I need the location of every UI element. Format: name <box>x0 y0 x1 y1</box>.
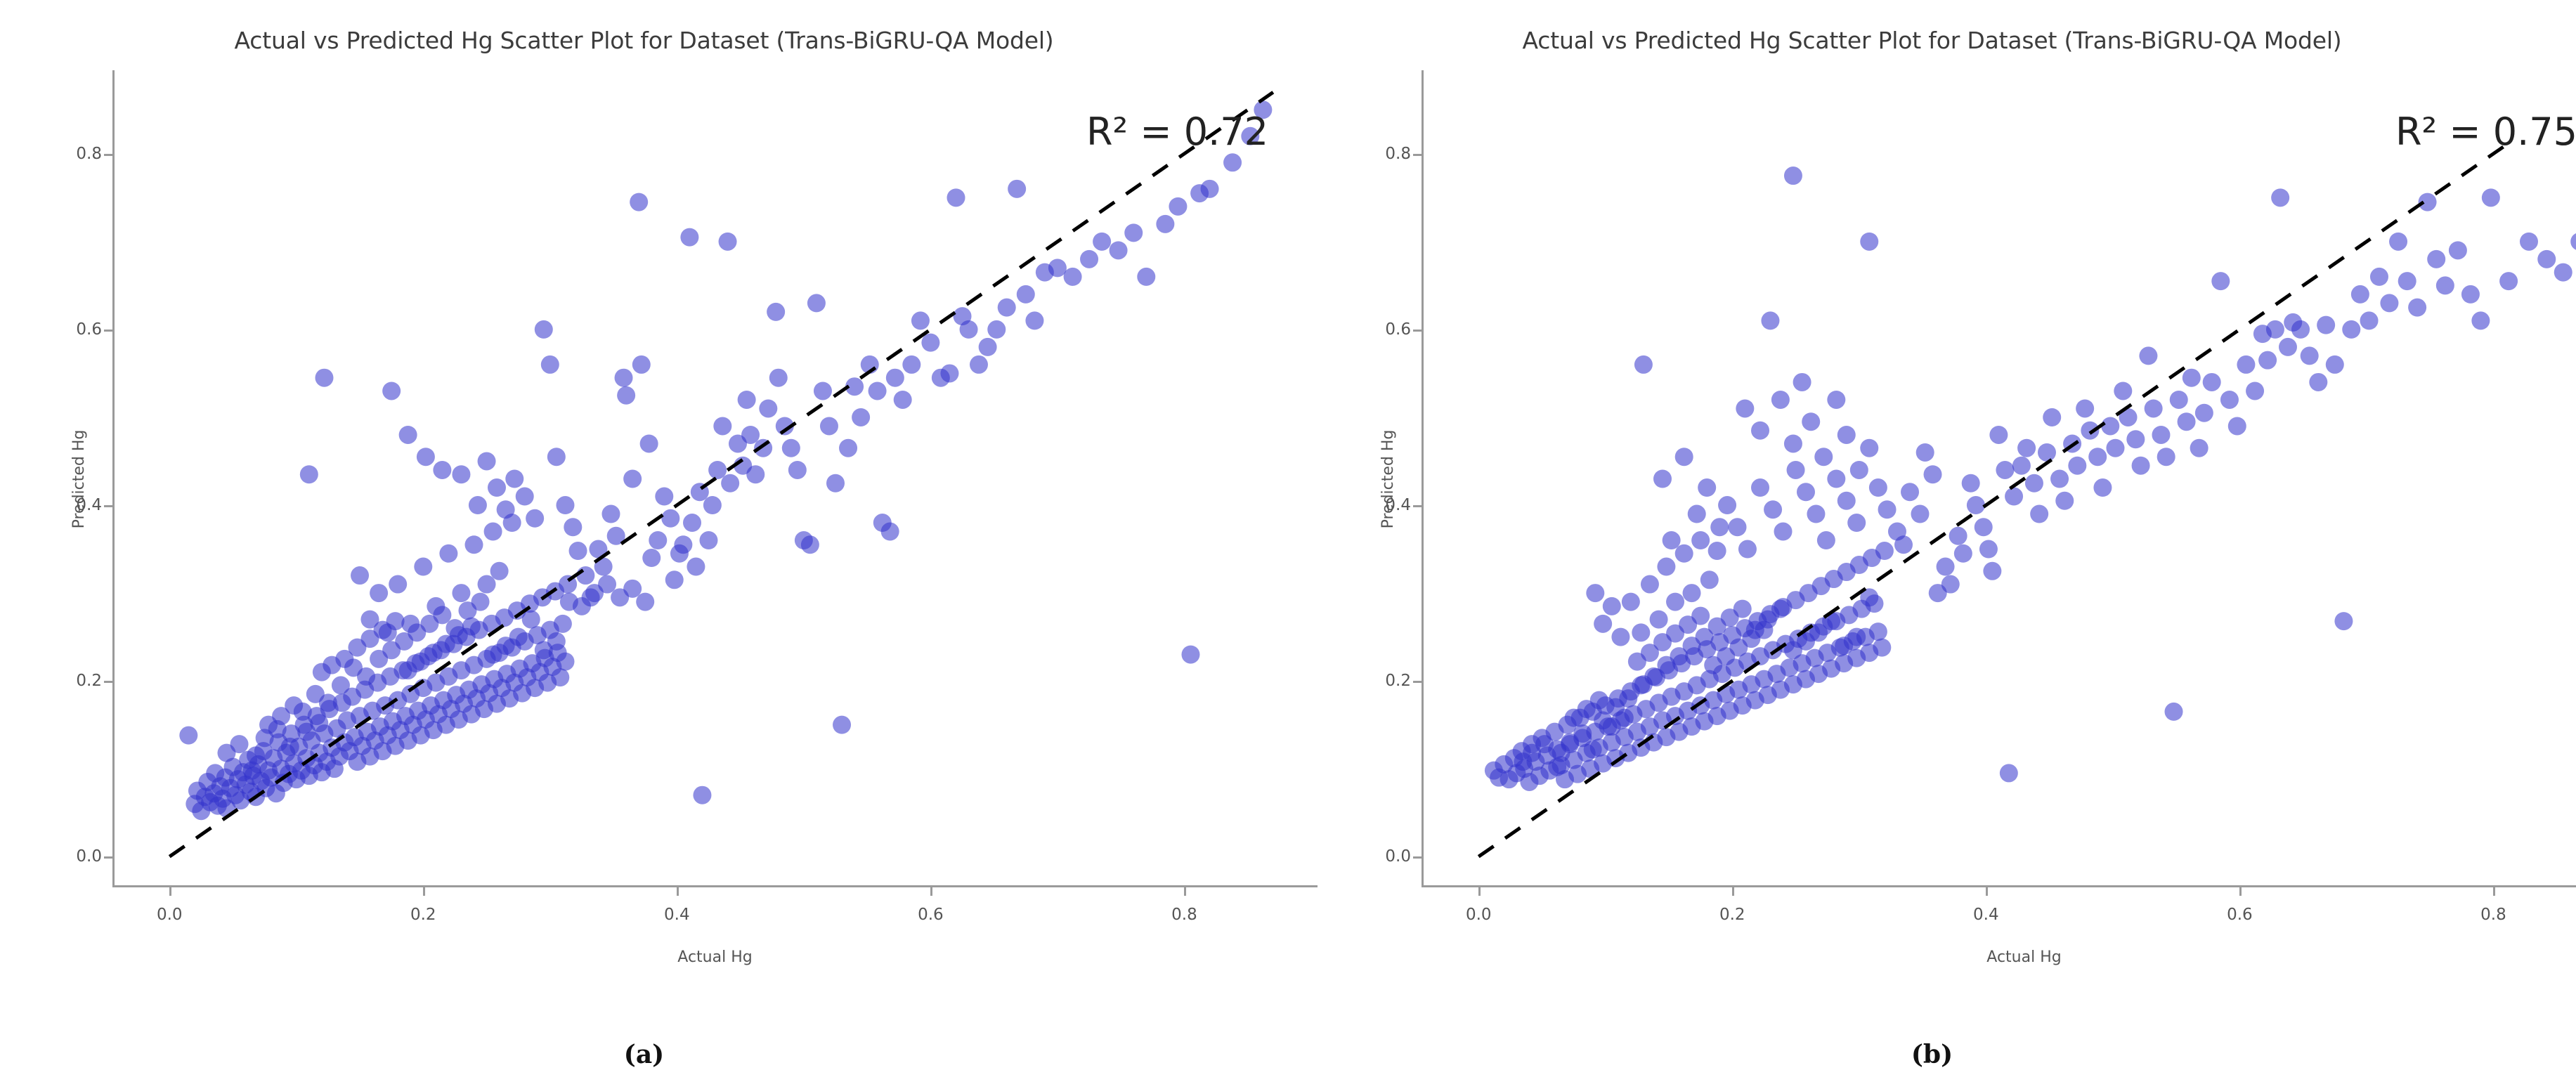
scatter-point <box>1650 611 1668 629</box>
scatter-point <box>2101 417 2119 435</box>
scatter-point <box>839 439 857 457</box>
scatter-point <box>1911 505 1929 523</box>
scatter-point <box>894 391 912 409</box>
scatter-point <box>2068 457 2086 475</box>
scatter-point <box>351 566 369 585</box>
scatter-point <box>433 461 451 479</box>
scatter-point <box>1025 311 1043 330</box>
scatter-point <box>680 228 698 247</box>
y-tick-label: 0.2 <box>18 672 102 690</box>
scatter-point <box>2554 263 2572 282</box>
x-tick-label: 0.4 <box>635 906 719 924</box>
scatter-point <box>902 356 921 374</box>
scatter-point <box>2055 492 2074 510</box>
y-tick-mark <box>104 856 112 859</box>
scatter-point <box>547 632 566 651</box>
scatter-point <box>1535 735 1554 753</box>
scatter-point <box>987 320 1006 339</box>
scatter-point <box>1201 180 1219 198</box>
scatter-point <box>2025 474 2043 493</box>
scatter-point <box>1733 600 1752 618</box>
scatter-point <box>1736 399 1754 417</box>
scatter-point <box>947 188 965 207</box>
scatter-point <box>2317 316 2335 334</box>
y-tick-mark <box>1413 681 1422 683</box>
scatter-point <box>1675 448 1693 466</box>
scatter-point <box>1847 628 1866 646</box>
scatter-point <box>940 364 958 382</box>
scatter-point <box>1653 470 1672 488</box>
scatter-point <box>452 465 470 483</box>
scatter-point <box>1949 527 1967 545</box>
scatter-point <box>1634 356 1653 374</box>
scatter-point <box>2017 439 2036 457</box>
scatter-point <box>2106 439 2124 457</box>
scatter-point <box>484 523 502 541</box>
scatter-point <box>713 417 731 435</box>
scatter-point <box>960 320 978 339</box>
y-tick-mark <box>1413 856 1422 859</box>
x-axis-label-b: Actual Hg <box>1422 948 2576 966</box>
scatter-point <box>1827 470 1845 488</box>
scatter-point <box>1924 465 1942 483</box>
scatter-point <box>516 488 534 506</box>
scatter-point <box>2145 399 2163 417</box>
scatter-point <box>1979 540 1998 559</box>
scatter-point <box>2228 417 2246 435</box>
scatter-point <box>478 452 496 470</box>
scatter-point <box>2570 233 2576 251</box>
scatter-point <box>433 606 451 624</box>
scatter-point <box>1962 474 1980 493</box>
y-tick-mark <box>104 505 112 507</box>
y-tick-label: 0.2 <box>1327 672 1411 690</box>
x-tick-mark <box>423 887 425 896</box>
scatter-point <box>1586 584 1604 602</box>
scatter-point <box>2351 285 2369 304</box>
x-tick-mark <box>1732 887 1734 896</box>
scatter-point <box>1683 584 1701 602</box>
scatter-point <box>1603 597 1621 615</box>
scatter-point <box>1802 412 1820 431</box>
scatter-point <box>1761 311 1779 330</box>
scatter-point <box>417 448 435 466</box>
scatter-point <box>2334 612 2353 630</box>
scatter-point <box>1663 531 1681 549</box>
scatter-point <box>630 193 648 211</box>
scatter-point <box>2258 351 2277 370</box>
scatter-point <box>2170 391 2188 409</box>
scatter-point <box>2203 373 2221 391</box>
scatter-point <box>1573 724 1592 743</box>
scatter-point <box>1657 558 1675 576</box>
scatter-point <box>505 470 523 488</box>
scatter-point <box>1008 180 1026 198</box>
scatter-point <box>1718 496 1736 514</box>
scatter-point <box>1169 197 1187 216</box>
scatter-point <box>554 615 572 633</box>
scatter-point <box>2157 448 2175 466</box>
scatter-point <box>640 434 658 452</box>
scatter-point <box>2370 268 2388 286</box>
scatter-point <box>881 523 899 541</box>
scatter-point <box>738 391 756 409</box>
scatter-point <box>1700 570 1719 589</box>
y-tick-label: 0.8 <box>1327 145 1411 163</box>
x-tick-label: 0.6 <box>888 906 972 924</box>
scatter-point <box>2461 285 2480 304</box>
scatter-point <box>636 593 654 611</box>
scatter-point <box>488 478 506 497</box>
scatter-point <box>820 417 838 435</box>
scatter-point <box>315 369 333 387</box>
scatter-point <box>230 735 249 753</box>
scatter-point <box>1093 233 1111 251</box>
scatter-point <box>490 562 509 580</box>
scatter-point <box>285 696 303 715</box>
scatter-point <box>2152 426 2170 444</box>
scatter-point <box>2038 443 2056 462</box>
scatter-point <box>1996 461 2014 479</box>
scatter-point <box>2132 457 2150 475</box>
scatter-point <box>1710 518 1729 536</box>
y-tick-label: 0.6 <box>18 320 102 339</box>
scatter-point <box>469 496 487 514</box>
scatter-point <box>2190 439 2209 457</box>
scatter-point <box>970 356 988 374</box>
scatter-point <box>569 542 587 560</box>
scatter-point <box>1064 268 1082 286</box>
scatter-point <box>1869 622 1887 641</box>
scatter-point <box>370 584 388 602</box>
scatter-point <box>1817 531 1835 549</box>
x-tick-label: 0.0 <box>127 906 212 924</box>
scatter-point <box>2427 250 2445 268</box>
scatter-point <box>547 448 566 466</box>
scatter-point <box>721 474 739 493</box>
scatter-point <box>243 762 261 780</box>
x-tick-label: 0.8 <box>1142 906 1226 924</box>
scatter-point <box>1878 500 1897 519</box>
scatter-point <box>2520 233 2538 251</box>
scatter-point <box>1894 535 1913 554</box>
scatter-point <box>1827 391 1845 409</box>
scatter-point <box>2178 412 2196 431</box>
scatter-point <box>2139 346 2157 365</box>
r2-annotation-a: R² = 0.72 <box>1086 110 1268 154</box>
scatter-point <box>649 531 667 549</box>
scatter-point <box>674 535 692 554</box>
x-tick-label: 0.6 <box>2197 906 2282 924</box>
scatter-point <box>767 303 785 321</box>
axes-wrapper-b: R² = 0.75 Predicted Hg Actual Hg 0.00.20… <box>1288 0 2576 1089</box>
scatter-point <box>869 382 887 400</box>
scatter-point <box>452 584 470 602</box>
scatter-point <box>661 509 679 528</box>
scatter-svg-a <box>112 70 1318 887</box>
scatter-point <box>1738 540 1757 559</box>
scatter-point <box>1622 593 1640 611</box>
scatter-point <box>615 369 633 387</box>
scatter-point <box>439 544 457 563</box>
subfigure-caption-b: (b) <box>1288 1040 2576 1069</box>
scatter-point <box>2246 382 2264 400</box>
scatter-point <box>921 334 939 352</box>
scatter-point <box>2093 478 2112 497</box>
scatter-point <box>2279 338 2297 356</box>
scatter-point <box>833 716 851 734</box>
scatter-point <box>2211 272 2230 290</box>
scatter-point <box>332 676 350 694</box>
scatter-point <box>471 593 490 611</box>
scatter-point <box>1771 391 1790 409</box>
scatter-point <box>2291 320 2310 339</box>
scatter-point <box>576 566 594 585</box>
scatter-point <box>1691 607 1710 625</box>
scatter-point <box>623 470 642 488</box>
figure-container: Actual vs Predicted Hg Scatter Plot for … <box>0 0 2576 1089</box>
scatter-point <box>1787 461 1805 479</box>
scatter-point <box>281 738 299 756</box>
scatter-point <box>746 465 765 483</box>
scatter-point <box>2030 505 2048 523</box>
scatter-point <box>2195 404 2213 422</box>
panel-a: Actual vs Predicted Hg Scatter Plot for … <box>0 0 1288 1089</box>
scatter-point <box>573 597 591 615</box>
scatter-point <box>655 488 673 506</box>
scatter-point <box>1937 558 1955 576</box>
scatter-point <box>2114 382 2132 400</box>
x-tick-mark <box>169 887 171 896</box>
scatter-point <box>1017 285 1035 304</box>
scatter-point <box>2342 320 2360 339</box>
scatter-point <box>911 311 930 330</box>
scatter-point <box>522 611 540 629</box>
scatter-point <box>1611 628 1629 646</box>
y-tick-mark <box>1413 154 1422 156</box>
scatter-point <box>1774 523 1793 541</box>
scatter-point <box>1675 544 1693 563</box>
r2-annotation-b: R² = 0.75 <box>2395 110 2576 154</box>
scatter-point <box>386 612 405 630</box>
scatter-point <box>632 356 651 374</box>
scatter-point <box>1875 542 1894 560</box>
scatter-point <box>1954 544 1972 563</box>
scatter-point <box>300 465 318 483</box>
scatter-point <box>1080 250 1098 268</box>
axes-a: R² = 0.72 Predicted Hg Actual Hg 0.00.20… <box>112 70 1318 887</box>
scatter-point <box>2537 250 2556 268</box>
x-tick-label: 0.4 <box>1944 906 2028 924</box>
scatter-point <box>1860 439 1878 457</box>
scatter-point <box>2076 399 2094 417</box>
scatter-point <box>2436 276 2454 294</box>
scatter-point <box>1941 575 1960 594</box>
scatter-point <box>1156 215 1174 233</box>
scatter-point <box>1110 241 1128 259</box>
scatter-point <box>1619 689 1637 707</box>
scatter-point <box>826 474 845 493</box>
scatter-point <box>1975 518 1993 536</box>
scatter-point <box>1967 496 1985 514</box>
scatter-point <box>1860 233 1878 251</box>
scatter-point <box>601 505 620 523</box>
scatter-point <box>465 535 483 554</box>
scatter-point <box>1590 691 1608 710</box>
scatter-svg-b <box>1422 70 2576 887</box>
axes-b: R² = 0.75 Predicted Hg Actual Hg 0.00.20… <box>1422 70 2576 887</box>
scatter-point <box>1584 741 1602 759</box>
scatter-point <box>683 514 701 532</box>
scatter-point <box>1847 514 1866 532</box>
scatter-point <box>1632 623 1650 641</box>
scatter-point <box>399 426 417 444</box>
scatter-point <box>2012 457 2031 475</box>
scatter-point <box>598 575 616 594</box>
scatter-point <box>1666 593 1684 611</box>
scatter-point <box>1223 153 1242 171</box>
scatter-point <box>1814 448 1833 466</box>
scatter-point <box>2271 188 2289 207</box>
y-tick-label: 0.4 <box>1327 496 1411 514</box>
scatter-point <box>2380 294 2398 312</box>
scatter-point <box>2389 233 2407 251</box>
y-tick-mark <box>104 154 112 156</box>
scatter-point <box>886 369 904 387</box>
x-axis-label-a: Actual Hg <box>112 948 1318 966</box>
scatter-point <box>2000 764 2018 782</box>
scatter-point <box>551 668 569 686</box>
scatter-point <box>1850 461 1868 479</box>
scatter-point <box>2309 373 2327 391</box>
x-tick-mark <box>1986 887 1988 896</box>
scatter-point <box>1137 268 1155 286</box>
scatter-point <box>1181 646 1199 664</box>
scatter-point <box>1837 492 1856 510</box>
scatter-point <box>389 575 407 594</box>
scatter-point <box>564 518 582 536</box>
scatter-point <box>497 500 515 519</box>
scatter-point <box>478 575 496 594</box>
scatter-point <box>556 653 574 671</box>
scatter-point <box>1989 426 2008 444</box>
scatter-point <box>1615 709 1634 727</box>
panel-b: Actual vs Predicted Hg Scatter Plot for … <box>1288 0 2576 1089</box>
x-tick-label: 0.0 <box>1436 906 1521 924</box>
scatter-point <box>693 786 711 804</box>
scatter-point <box>1797 483 1815 501</box>
scatter-point <box>1698 478 1716 497</box>
scatter-point <box>2408 299 2426 317</box>
scatter-point <box>759 399 777 417</box>
scatter-point <box>1764 500 1782 519</box>
scatter-point <box>2126 430 2145 448</box>
scatter-point <box>852 408 870 426</box>
scatter-point <box>788 461 807 479</box>
x-tick-label: 0.2 <box>381 906 465 924</box>
y-tick-mark <box>1413 330 1422 332</box>
scatter-point <box>801 535 819 554</box>
scatter-point <box>1729 518 1747 536</box>
scatter-point <box>2005 488 2023 506</box>
scatter-point <box>310 714 328 732</box>
scatter-point <box>719 233 737 251</box>
scatter-point <box>1124 223 1143 242</box>
scatter-point <box>979 338 997 356</box>
scatter-point <box>708 461 727 479</box>
x-tick-mark <box>930 887 932 896</box>
scatter-point <box>1873 639 1891 657</box>
y-tick-label: 0.6 <box>1327 320 1411 339</box>
scatter-point <box>319 693 337 712</box>
y-tick-mark <box>104 681 112 683</box>
scatter-point <box>2301 346 2319 365</box>
y-tick-label: 0.4 <box>18 496 102 514</box>
scatter-point <box>1708 542 1726 560</box>
scatter-point <box>2482 188 2500 207</box>
axes-wrapper-a: R² = 0.72 Predicted Hg Actual Hg 0.00.20… <box>0 0 1288 1089</box>
scatter-point <box>2449 241 2467 259</box>
scatter-point <box>782 439 800 457</box>
scatter-point <box>2360 311 2379 330</box>
x-tick-mark <box>1478 887 1481 896</box>
y-tick-mark <box>1413 505 1422 507</box>
scatter-point <box>642 549 661 567</box>
scatter-point <box>1771 600 1790 618</box>
x-tick-label: 0.2 <box>1690 906 1774 924</box>
x-tick-mark <box>677 887 679 896</box>
scatter-point <box>1869 478 1887 497</box>
scatter-point <box>535 320 553 339</box>
scatter-point <box>1691 531 1710 549</box>
scatter-point <box>1837 426 1856 444</box>
scatter-point <box>807 294 826 312</box>
scatter-point <box>2088 448 2107 466</box>
scatter-point <box>2326 356 2344 374</box>
y-tick-label: 0.0 <box>1327 847 1411 866</box>
scatter-point <box>1641 575 1659 594</box>
plot-area-b <box>1422 70 2576 887</box>
scatter-point <box>2471 311 2490 330</box>
scatter-point <box>1755 621 1773 639</box>
scatter-point <box>1784 434 1802 452</box>
subfigure-caption-a: (a) <box>0 1040 1288 1069</box>
scatter-point <box>526 509 544 528</box>
scatter-point <box>2050 470 2069 488</box>
scatter-point <box>556 496 574 514</box>
scatter-point <box>2183 369 2201 387</box>
scatter-point <box>357 667 375 686</box>
scatter-point <box>665 570 684 589</box>
scatter-point <box>741 426 760 444</box>
y-tick-mark <box>104 330 112 332</box>
scatter-point <box>382 382 401 400</box>
scatter-point <box>1594 615 1612 633</box>
scatter-point <box>769 369 788 387</box>
y-tick-label: 0.0 <box>18 847 102 866</box>
scatter-point <box>1688 505 1706 523</box>
scatter-point <box>541 356 559 374</box>
scatter-point <box>1548 758 1566 776</box>
scatter-point <box>2165 703 2183 721</box>
x-tick-mark <box>2239 887 2242 896</box>
scatter-point <box>1916 443 1934 462</box>
scatter-point <box>414 558 432 576</box>
scatter-point <box>1048 259 1067 277</box>
scatter-point <box>179 726 197 745</box>
scatter-point <box>623 580 642 598</box>
y-tick-label: 0.8 <box>18 145 102 163</box>
